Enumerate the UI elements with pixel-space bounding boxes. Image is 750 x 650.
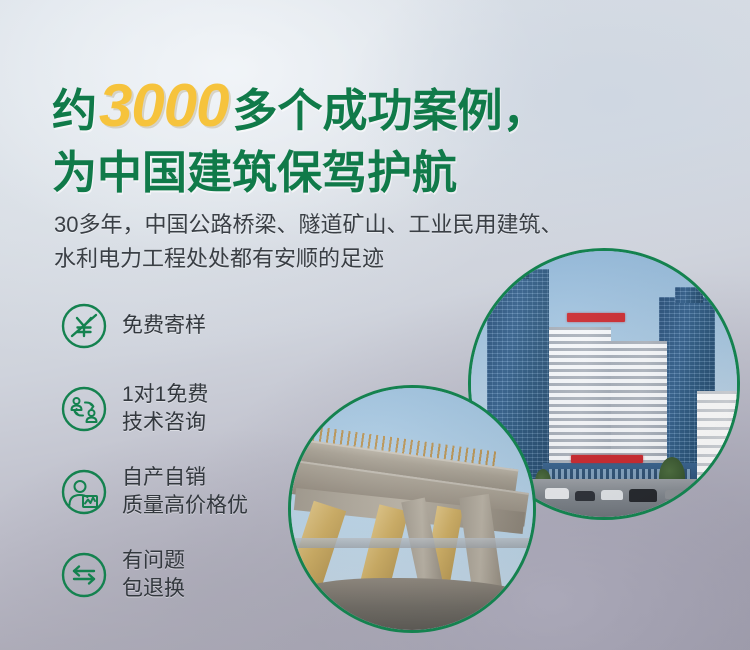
building-car-3	[601, 490, 623, 500]
feature-item-self-production[interactable]: 自产自销 质量高价格优	[60, 458, 248, 526]
free-sample-icon	[60, 302, 108, 350]
feature-label-secondary: 质量高价格优	[122, 492, 248, 520]
building-side-white	[697, 391, 737, 491]
building-car-4	[629, 489, 657, 502]
building-tower-right-crown	[675, 287, 703, 303]
feature-item-consult[interactable]: 1对1免费 技术咨询	[60, 375, 248, 443]
feature-label: 1对1免费	[122, 381, 208, 409]
feature-item-self-production-text: 自产自销 质量高价格优	[122, 464, 248, 519]
promo-banner: 约3000多个成功案例， 为中国建筑保驾护航 30多年，中国公路桥梁、隧道矿山、…	[0, 0, 750, 650]
bridge-photo	[288, 385, 536, 633]
feature-item-return-exchange-text: 有问题 包退换	[122, 547, 185, 602]
building-roof-sign	[567, 313, 625, 322]
feature-label: 自产自销	[122, 464, 248, 492]
feature-item-free-sample-text: 免费寄样	[122, 312, 206, 340]
headline-line-2-text: 为中国建筑保驾护航	[52, 147, 457, 198]
subtitle: 30多年，中国公路桥梁、隧道矿山、工业民用建筑、 水利电力工程处处都有安顺的足迹	[54, 208, 714, 276]
self-production-icon	[60, 468, 108, 516]
feature-item-free-sample[interactable]: 免费寄样	[60, 292, 248, 360]
headline-line-1: 约3000多个成功案例，	[52, 76, 548, 136]
subtitle-line-2: 水利电力工程处处都有安顺的足迹	[54, 242, 714, 276]
feature-list: 免费寄样 1对1免费 技术咨询	[60, 292, 248, 609]
feature-label: 免费寄样	[122, 312, 206, 340]
headline-suffix: 多个成功案例，	[233, 85, 548, 136]
headline-line-2: 为中国建筑保驾护航	[52, 150, 548, 195]
building-car-1	[545, 488, 569, 499]
headline-prefix: 约	[52, 85, 97, 136]
feature-item-consult-text: 1对1免费 技术咨询	[122, 381, 208, 436]
headline: 约3000多个成功案例， 为中国建筑保驾护航	[52, 76, 548, 195]
bridge-photo-inner	[291, 388, 533, 630]
building-car-5	[665, 490, 683, 499]
one-on-one-consult-icon	[60, 385, 108, 433]
bridge-rubble	[291, 578, 533, 630]
headline-number: 3000	[97, 72, 232, 139]
return-exchange-icon	[60, 551, 108, 599]
building-car-2	[575, 491, 595, 501]
bridge-horizon	[291, 538, 533, 548]
feature-label-secondary: 包退换	[122, 575, 185, 603]
feature-label-secondary: 技术咨询	[122, 409, 208, 437]
subtitle-line-1: 30多年，中国公路桥梁、隧道矿山、工业民用建筑、	[54, 208, 714, 242]
building-entrance-sign	[571, 455, 643, 463]
feature-label: 有问题	[122, 547, 185, 575]
feature-item-return-exchange[interactable]: 有问题 包退换	[60, 541, 248, 609]
